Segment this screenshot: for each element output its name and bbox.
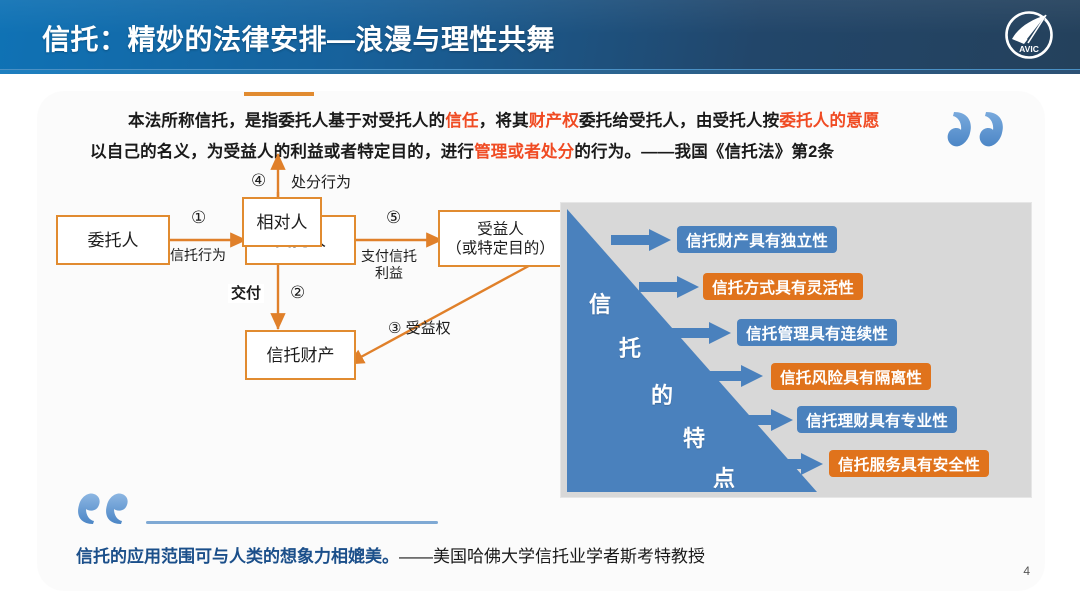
- diagram-label-num2-text: 交付: [228, 284, 264, 303]
- feature-tag-5[interactable]: 信托理财具有专业性: [797, 406, 957, 433]
- triangle-char-1: 信: [589, 287, 611, 319]
- scholar-quote-attribution: ——美国哈佛大学信托业学者斯考特教授: [399, 547, 705, 566]
- feature-tag-3[interactable]: 信托管理具有连续性: [737, 319, 897, 346]
- page-title: 信托：精妙的法律安排—浪漫与理性共舞: [42, 18, 555, 58]
- feature-tag-4[interactable]: 信托风险具有隔离性: [771, 363, 931, 390]
- content-card: 本法所称信托，是指委托人基于对受托人的信任，将其财产权委托给受托人，由受托人按委…: [38, 92, 1044, 590]
- diagram-label-num5-text-l2: 利益: [375, 265, 403, 281]
- feature-arrow-4: [703, 365, 763, 387]
- diagram-label-num2: ②: [290, 284, 305, 301]
- diagram-box-counterparty-label: 相对人: [257, 212, 308, 233]
- diagram-box-trust-property[interactable]: 信托财产: [245, 330, 356, 380]
- diagram-box-trust-property-label: 信托财产: [267, 345, 335, 366]
- avic-logo-icon: AVIC: [1000, 6, 1058, 64]
- diagram-label-num1-text: 信托行为: [170, 247, 226, 264]
- slide-header: 信托：精妙的法律安排—浪漫与理性共舞 AVIC: [0, 0, 1080, 69]
- feature-tag-1[interactable]: 信托财产具有独立性: [677, 226, 837, 253]
- bottom-quote-rule: [146, 521, 438, 524]
- feature-arrow-3: [671, 322, 731, 344]
- header-accent-bar: [0, 69, 1080, 74]
- triangle-char-4: 特: [683, 421, 705, 453]
- diagram-label-num1: ①: [191, 209, 206, 226]
- scholar-quote: 信托的应用范围可与人类的想象力相媲美。——美国哈佛大学信托业学者斯考特教授: [76, 546, 705, 568]
- feature-arrow-6: [763, 453, 823, 475]
- avic-logo-text: AVIC: [1019, 44, 1039, 54]
- diagram-box-beneficiary[interactable]: 受益人 （或特定目的）: [438, 210, 563, 267]
- triangle-char-2: 托: [619, 331, 641, 363]
- feature-tag-6[interactable]: 信托服务具有安全性: [829, 450, 989, 477]
- diagram-box-settlor[interactable]: 委托人: [56, 215, 170, 265]
- page-number: 4: [1023, 564, 1030, 578]
- triangle-char-3: 的: [651, 378, 673, 410]
- diagram-label-num5: ⑤: [386, 209, 401, 226]
- diagram-label-num3: ③ 受益权: [388, 320, 451, 337]
- diagram-label-num4-text: 处分行为: [291, 174, 351, 191]
- diagram-box-settlor-label: 委托人: [88, 230, 139, 251]
- quote-seg-5: 的行为。——我国《信托法》第2条: [574, 143, 834, 161]
- quote-seg-3: 委托给受托人，由受托人按: [579, 112, 779, 130]
- diagram-box-beneficiary-label-2: （或特定目的）: [446, 239, 555, 258]
- close-quote-icon: [946, 110, 1016, 154]
- diagram-box-counterparty[interactable]: [244, 92, 314, 96]
- diagram-box-beneficiary-label-1: 受益人: [477, 220, 524, 239]
- open-quote-icon: [76, 492, 128, 526]
- diagram-label-num5-text: 支付信托 利益: [356, 248, 422, 282]
- trust-features-panel: 信 托 的 特 点 信托财产具有独立性 信托方式具有灵活性 信托管理具有连续性 …: [560, 202, 1032, 498]
- scholar-quote-strong: 信托的应用范围可与人类的想象力相媲美。: [76, 547, 399, 566]
- feature-arrow-1: [611, 229, 671, 251]
- triangle-char-5: 点: [713, 461, 735, 493]
- feature-tag-2[interactable]: 信托方式具有灵活性: [703, 273, 863, 300]
- diagram-label-num5-text-l1: 支付信托: [361, 248, 417, 264]
- feature-arrow-5: [733, 409, 793, 431]
- quote-highlight-settlor-will: 委托人的意愿: [779, 112, 879, 130]
- diagram-label-num4: ④: [251, 172, 266, 189]
- feature-arrow-2: [639, 276, 699, 298]
- diagram-box-counterparty-visible[interactable]: 相对人: [242, 197, 322, 247]
